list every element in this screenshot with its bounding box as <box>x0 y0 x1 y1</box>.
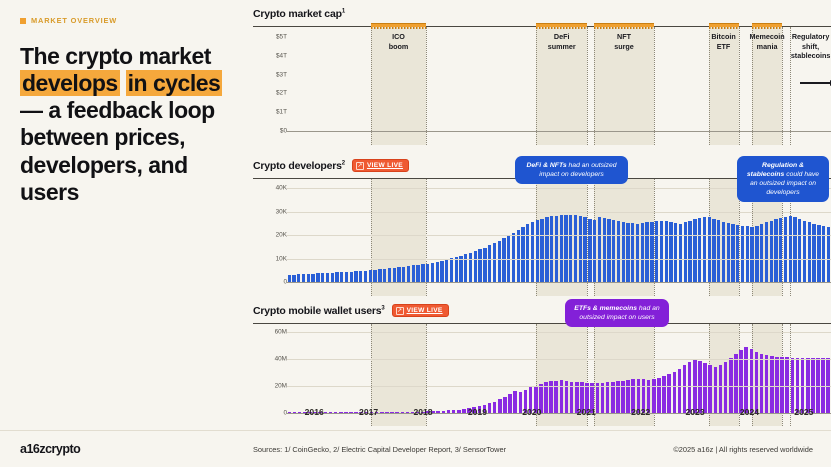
bar <box>734 354 738 413</box>
callout-leader-line <box>628 178 739 179</box>
view-live-button-users[interactable]: ↗ VIEW LIVE <box>392 304 449 317</box>
bar <box>455 257 458 282</box>
bar <box>526 224 529 282</box>
external-link-icon: ↗ <box>356 162 364 170</box>
callout-leader-line <box>669 323 831 324</box>
bar <box>808 222 811 282</box>
x-tick-label: 2018 <box>396 407 450 417</box>
bar <box>359 271 362 282</box>
bar <box>650 222 653 282</box>
bar <box>498 241 501 282</box>
bar <box>483 248 486 282</box>
y-tick-label: $5T <box>253 34 287 41</box>
callout-leader-line <box>253 178 515 179</box>
gridline <box>287 235 831 236</box>
bar <box>445 259 448 282</box>
eyebrow-tag: MARKET OVERVIEW <box>20 16 228 25</box>
bar <box>321 273 324 282</box>
developers-title: Crypto developers2 <box>253 160 345 172</box>
bar <box>727 223 730 282</box>
bar <box>421 264 424 282</box>
copyright-note: ©2025 a16z | All rights reserved worldwi… <box>673 445 813 454</box>
era-label-bitcoin: BitcoinETF <box>699 32 749 51</box>
x-tick-label: 2025 <box>777 407 831 417</box>
bar <box>311 274 314 282</box>
chart-panel-developers: Crypto developers2 ↗ VIEW LIVE 40K30K20K… <box>249 158 831 298</box>
market-cap-y-axis: $5T$4T$3T$2T$1T$0 <box>249 27 287 145</box>
view-live-label: VIEW LIVE <box>407 307 443 314</box>
bar <box>760 354 764 413</box>
bar <box>784 217 787 282</box>
eyebrow-square-icon <box>20 18 26 24</box>
y-tick-label: $3T <box>253 71 287 78</box>
bar <box>540 219 543 283</box>
bar <box>724 362 728 413</box>
gridline <box>287 359 831 360</box>
callout-defi-bold: DeFi & NFTs <box>526 162 566 169</box>
bar <box>512 233 515 282</box>
bar <box>369 270 372 282</box>
bar <box>555 216 558 282</box>
x-tick-label: 2019 <box>450 407 504 417</box>
bar <box>393 268 396 282</box>
era-label-ico: ICOboom <box>361 32 435 51</box>
bar <box>622 222 625 282</box>
bar <box>383 269 386 282</box>
bar <box>731 224 734 282</box>
bar <box>641 223 644 282</box>
bar <box>536 220 539 282</box>
bar <box>812 224 815 282</box>
bar <box>617 221 620 282</box>
users-y-axis: 60M40M20M0 <box>249 324 287 426</box>
users-title: Crypto mobile wallet users3 <box>253 305 385 317</box>
bar <box>674 223 677 282</box>
y-tick-label: 30K <box>253 208 287 215</box>
bar <box>798 219 801 282</box>
bar <box>789 216 792 282</box>
bar <box>545 217 548 282</box>
x-tick-label: 2021 <box>559 407 613 417</box>
bar <box>636 224 639 282</box>
headline-part-2: — a feedback loop between prices, develo… <box>20 97 215 204</box>
bar <box>669 222 672 282</box>
bar <box>517 230 520 282</box>
y-tick-label: 20M <box>253 383 287 390</box>
bar <box>770 221 773 282</box>
market-cap-baseline <box>287 131 831 132</box>
bar <box>598 217 601 282</box>
bar <box>603 218 606 282</box>
bar <box>440 261 443 282</box>
y-tick-label: $1T <box>253 109 287 116</box>
gridline <box>287 386 831 387</box>
bar <box>770 356 774 413</box>
bar <box>469 253 472 282</box>
chart-panel-market-cap: Crypto market cap1 $5T$4T$3T$2T$1T$0 ICO… <box>249 6 831 148</box>
callout-defi-nfts: DeFi & NFTs had an outsized impact on de… <box>515 156 628 184</box>
chart-panel-mobile-wallet-users: Crypto mobile wallet users3 ↗ VIEW LIVE … <box>249 303 831 430</box>
bar <box>493 243 496 282</box>
axis-baseline <box>287 282 831 283</box>
era-tick-memecoin <box>752 23 782 27</box>
y-tick-label: 0 <box>253 410 287 417</box>
gridline <box>287 332 831 333</box>
bar <box>712 219 715 283</box>
market-cap-header: Crypto market cap1 <box>249 6 831 21</box>
bar <box>774 219 777 282</box>
era-label-regulatory: Regulatoryshift,stablecoins <box>780 32 831 61</box>
bar <box>364 271 367 282</box>
callout-etf-bold: ETFs & memecoins <box>574 305 637 312</box>
bar <box>302 274 305 282</box>
bar <box>373 270 376 282</box>
bar <box>426 264 429 282</box>
trend-arrow-icon <box>800 80 831 86</box>
charts-column: Crypto market cap1 $5T$4T$3T$2T$1T$0 ICO… <box>249 0 831 430</box>
external-link-icon: ↗ <box>396 307 404 315</box>
bar <box>416 265 419 282</box>
bar <box>354 271 357 282</box>
bar <box>698 218 701 282</box>
y-tick-label: $4T <box>253 52 287 59</box>
y-tick-label: $0 <box>253 128 287 135</box>
developers-title-text: Crypto developers <box>253 160 342 172</box>
bar <box>307 274 310 282</box>
bar <box>550 216 553 282</box>
bar <box>459 256 462 282</box>
bar <box>683 365 687 413</box>
bar <box>775 357 779 413</box>
bar <box>478 249 481 282</box>
bar <box>569 215 572 282</box>
bar <box>579 216 582 282</box>
bar <box>564 215 567 282</box>
x-tick-label: 2022 <box>613 407 667 417</box>
bar <box>297 274 300 282</box>
bar <box>378 269 381 282</box>
market-cap-title-text: Crypto market cap <box>253 8 342 20</box>
bar <box>335 272 338 282</box>
gridline <box>287 259 831 260</box>
era-tick-bitcoin <box>709 23 739 27</box>
era-tick-nft <box>594 23 654 27</box>
bar <box>708 217 711 282</box>
headline-highlight-2: in cycles <box>126 70 223 96</box>
bar <box>488 245 491 282</box>
bar <box>722 222 725 282</box>
bar <box>736 225 739 282</box>
bar <box>345 272 348 282</box>
bar <box>803 221 806 282</box>
users-header: Crypto mobile wallet users3 ↗ VIEW LIVE <box>249 303 831 318</box>
bar <box>679 224 682 282</box>
developers-y-axis: 40K30K20K10K0 <box>249 179 287 296</box>
era-label-nft: NFTsurge <box>584 32 664 51</box>
bar <box>340 272 343 282</box>
bar <box>708 365 712 413</box>
market-cap-title: Crypto market cap1 <box>253 8 345 20</box>
y-tick-label: 10K <box>253 255 287 262</box>
bar <box>688 362 692 413</box>
bar <box>817 225 820 282</box>
bar <box>688 221 691 282</box>
y-tick-label: 60M <box>253 329 287 336</box>
bar <box>436 262 439 282</box>
y-tick-label: 0 <box>253 279 287 286</box>
bar <box>645 222 648 282</box>
bar <box>684 222 687 282</box>
bar <box>331 273 334 282</box>
x-tick-label: 2016 <box>287 407 341 417</box>
headline-part-1: The crypto market <box>20 43 211 69</box>
view-live-button-developers[interactable]: ↗ VIEW LIVE <box>352 159 409 172</box>
bar <box>719 365 723 413</box>
bar <box>607 219 610 282</box>
era-tick-defi <box>536 23 587 27</box>
bar <box>698 361 702 413</box>
bar <box>288 275 291 282</box>
bar <box>693 219 696 282</box>
bar <box>660 221 663 282</box>
bar <box>583 217 586 282</box>
view-live-label: VIEW LIVE <box>367 162 403 169</box>
bar <box>502 238 505 282</box>
bar <box>350 272 353 282</box>
x-tick-label: 2024 <box>722 407 776 417</box>
callout-regulation-stablecoins: Regulation & stablecoins could have an o… <box>737 156 829 202</box>
y-tick-label: 40K <box>253 185 287 192</box>
bar <box>703 217 706 282</box>
bar <box>326 273 329 282</box>
sources-note: Sources: 1/ CoinGecko, 2/ Electric Capit… <box>253 445 506 454</box>
headline-panel: MARKET OVERVIEW The crypto market develo… <box>0 0 246 430</box>
a16zcrypto-logo: a16zcrypto <box>20 442 80 456</box>
callout-etfs-memecoins: ETFs & memecoins had an outsized impact … <box>565 299 669 327</box>
bar <box>407 266 410 282</box>
bar <box>793 217 796 282</box>
bar <box>703 363 707 413</box>
bar <box>665 221 668 282</box>
footer: a16zcrypto Sources: 1/ CoinGecko, 2/ Ele… <box>0 430 831 467</box>
y-tick-label: 40M <box>253 356 287 363</box>
bar <box>292 275 295 282</box>
x-tick-label: 2023 <box>668 407 722 417</box>
eyebrow-label: MARKET OVERVIEW <box>31 16 117 25</box>
x-tick-label: 2020 <box>505 407 559 417</box>
bar <box>588 219 591 283</box>
gridline <box>287 212 831 213</box>
bar <box>474 251 477 282</box>
bar <box>779 218 782 282</box>
bar <box>631 223 634 282</box>
developers-footnote-ref: 2 <box>342 160 345 166</box>
y-tick-label: 20K <box>253 232 287 239</box>
bar <box>450 258 453 282</box>
bar <box>412 265 415 282</box>
bar <box>765 222 768 282</box>
callout-leader-line <box>253 323 565 324</box>
users-title-text: Crypto mobile wallet users <box>253 305 381 317</box>
page-title: The crypto market develops in cycles — a… <box>20 43 228 206</box>
bar <box>316 273 319 282</box>
bar <box>560 215 563 282</box>
headline-highlight-1: develops <box>20 70 120 96</box>
bar <box>612 220 615 282</box>
bar <box>402 267 405 282</box>
users-footnote-ref: 3 <box>381 305 384 311</box>
bar <box>655 221 658 282</box>
bar <box>744 347 748 413</box>
bar <box>626 223 629 282</box>
y-tick-label: $2T <box>253 90 287 97</box>
bar <box>760 224 763 282</box>
bar <box>755 352 759 413</box>
bar <box>765 355 769 413</box>
bar <box>431 263 434 282</box>
bar <box>397 267 400 282</box>
bar <box>574 215 577 282</box>
bar <box>593 220 596 282</box>
bar <box>717 220 720 282</box>
era-tick-ico <box>371 23 425 27</box>
market-cap-footnote-ref: 1 <box>342 8 345 14</box>
x-axis-labels: 2016201720182019202020212022202320242025 <box>287 407 831 417</box>
x-tick-label: 2017 <box>341 407 395 417</box>
bar <box>388 268 391 282</box>
bar <box>531 222 534 282</box>
